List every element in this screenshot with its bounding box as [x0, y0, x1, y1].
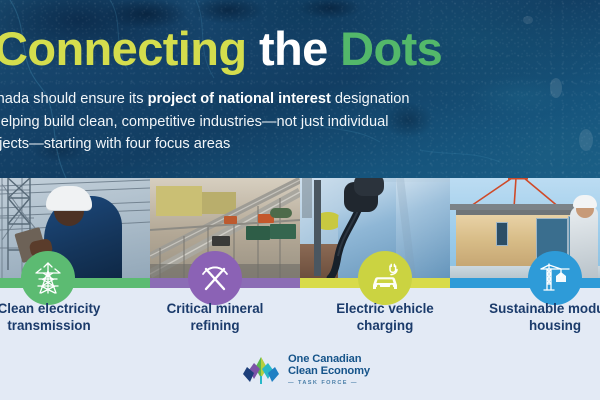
subtitle-emphasis: project of national interest [148, 91, 331, 107]
photo2-container-green2 [270, 224, 296, 239]
photo-clean-electricity [0, 178, 150, 278]
photo1-hard-hat [46, 186, 92, 210]
photo-strip [0, 178, 600, 278]
subtitle-line-1-pre: Canada should ensure its [0, 91, 148, 107]
subtitle: Canada should ensure its project of nati… [0, 88, 538, 156]
title-part-1: Connecting [0, 22, 246, 75]
logo-tagline: — TASK FORCE — [288, 379, 370, 388]
photo4-hard-hat [573, 195, 597, 208]
label-line-2: charging [310, 318, 460, 335]
photo2-container-orange2 [224, 216, 237, 224]
focus-area-color-bars [0, 278, 600, 288]
crossed-pickaxes-glyph [200, 263, 230, 293]
poster: Connecting the Dots Canada should ensure… [0, 0, 600, 400]
photo2-container-green [246, 226, 270, 240]
logo-wordmark: One Canadian Clean Economy — TASK FORCE … [288, 354, 370, 388]
label-line-1: Clean electricity [0, 301, 100, 316]
label-line-1: Electric vehicle [336, 301, 434, 316]
subtitle-line-2: is helping build clean, competitive indu… [0, 111, 538, 134]
label-ev-charging: Electric vehicle charging [310, 301, 460, 334]
tower-crane-icon [528, 251, 582, 305]
title-part-2: the [259, 22, 328, 75]
ev-charging-car-glyph [369, 263, 401, 293]
logo-line-2: Clean Economy [288, 366, 370, 378]
transmission-tower-glyph [33, 262, 63, 294]
label-line-1: Sustainable modular [489, 301, 600, 316]
label-critical-mineral: Critical mineral refining [140, 301, 290, 334]
photo2-equipment [212, 236, 230, 246]
label-line-2: housing [480, 318, 600, 335]
label-line-2: transmission [0, 318, 124, 335]
hero-background: Connecting the Dots Canada should ensure… [0, 0, 600, 178]
maple-leaf-mark [241, 356, 281, 386]
title-part-3: Dots [340, 22, 442, 75]
crossed-pickaxes-icon [188, 251, 242, 305]
ev-charging-car-icon [358, 251, 412, 305]
label-line-1: Critical mineral [167, 301, 264, 316]
subtitle-line-1-post: designation [331, 91, 410, 107]
photo4-window-a [496, 222, 508, 246]
tower-crane-glyph [539, 263, 571, 293]
label-modular-housing: Sustainable modular housing [480, 301, 600, 334]
transmission-tower-icon [21, 251, 75, 305]
page-title: Connecting the Dots [0, 24, 442, 74]
organization-logo: One Canadian Clean Economy — TASK FORCE … [241, 352, 381, 390]
subtitle-line-1: Canada should ensure its project of nati… [0, 88, 538, 111]
subtitle-line-3: projects—starting with four focus areas [0, 133, 538, 156]
photo2-vegetation [270, 208, 292, 218]
label-line-2: refining [140, 318, 290, 335]
label-clean-electricity: Clean electricity transmission [0, 301, 124, 334]
